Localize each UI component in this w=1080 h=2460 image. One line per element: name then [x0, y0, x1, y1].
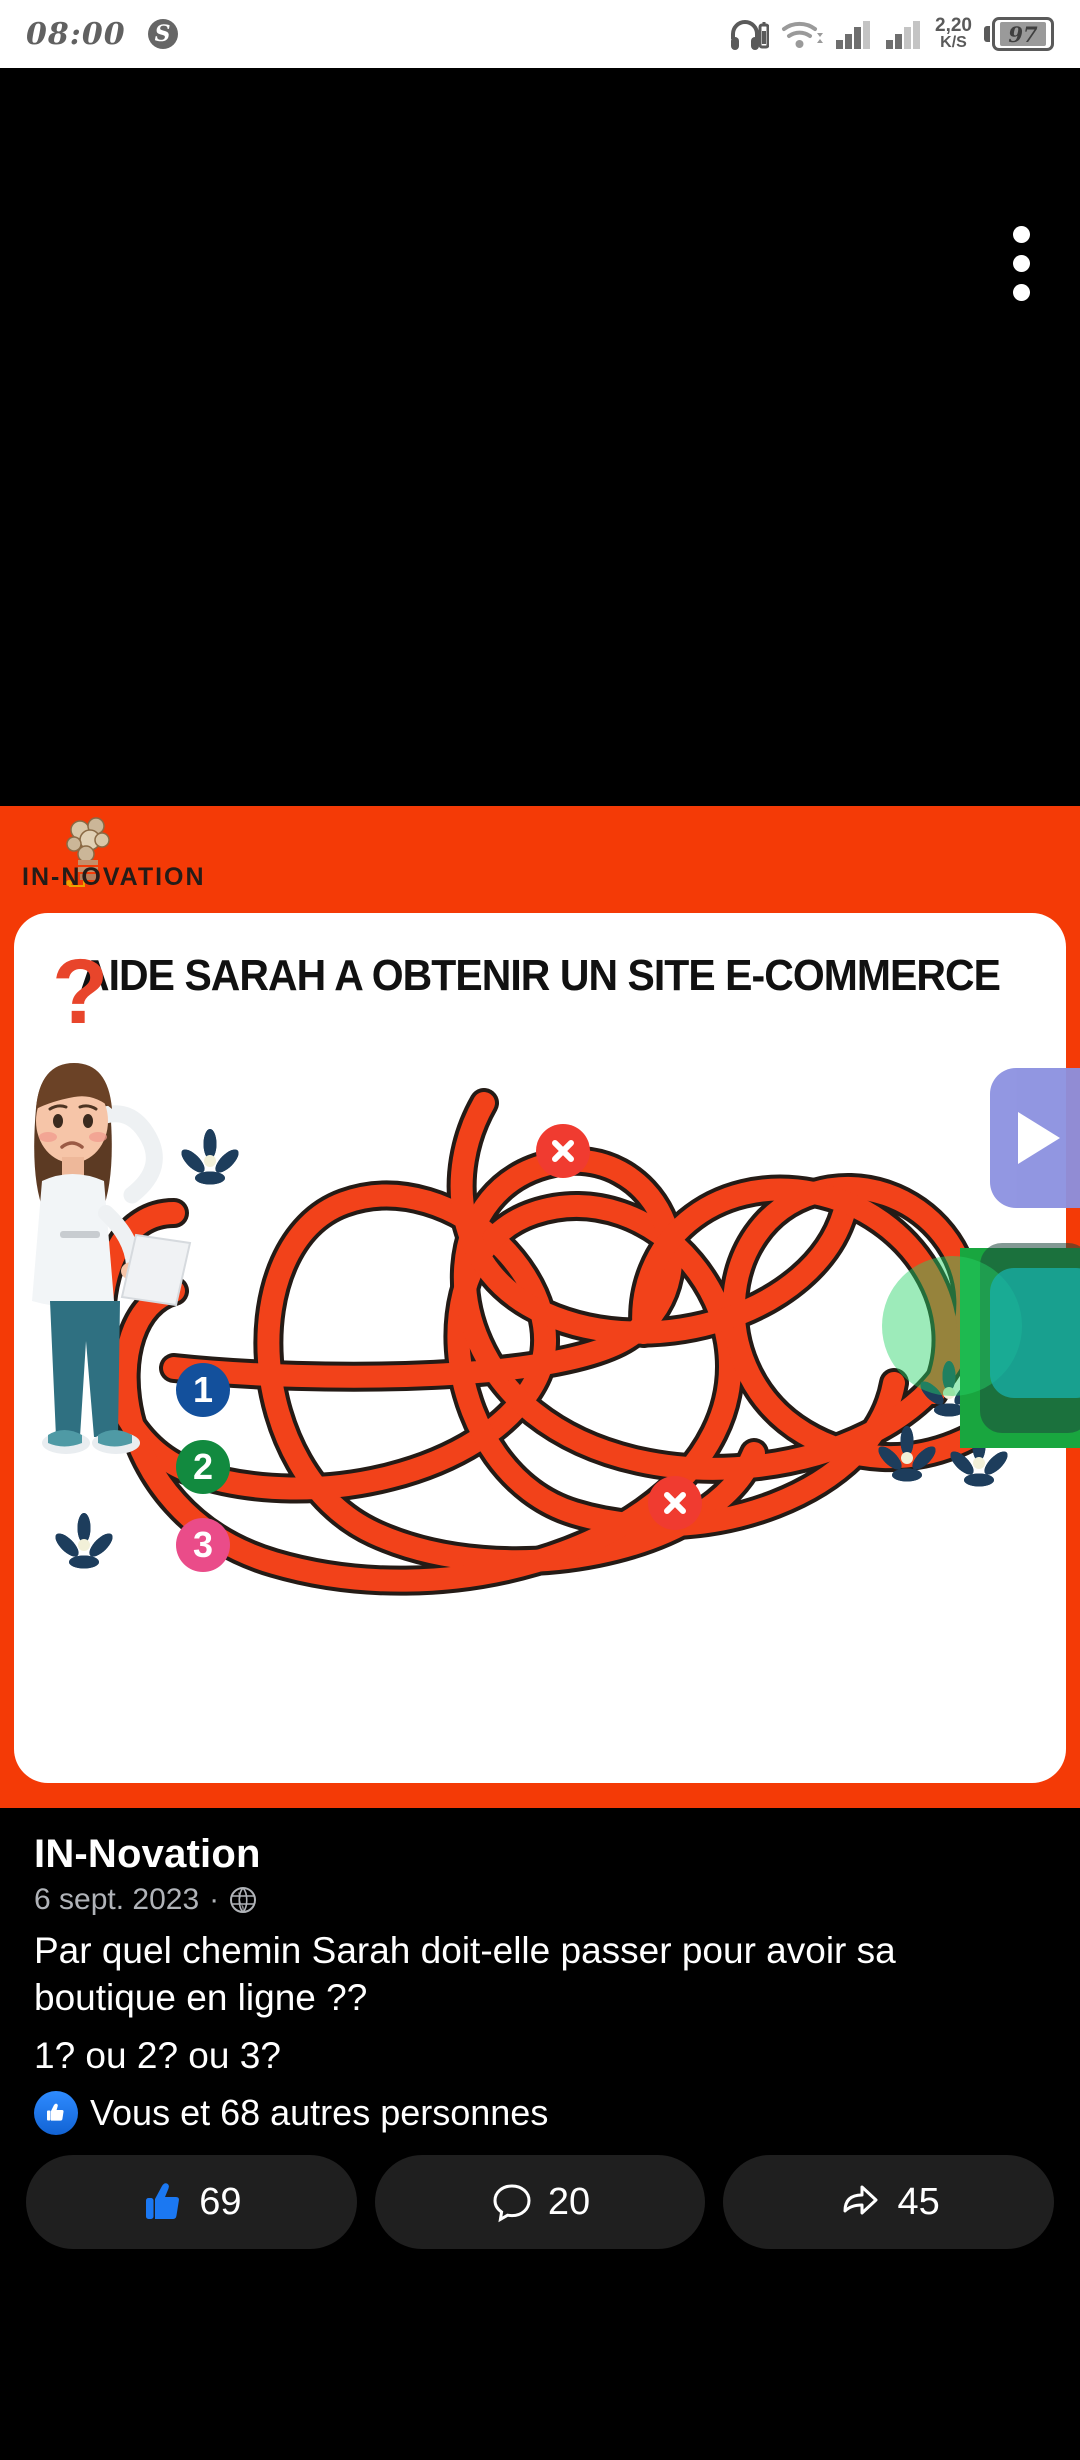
post-action-bar: 69 20 45: [0, 2135, 1080, 2275]
like-button[interactable]: 69: [26, 2155, 357, 2249]
reactions-summary-text: Vous et 68 autres personnes: [90, 2092, 548, 2134]
status-bar-right: 2,20 K/S 97: [729, 17, 1054, 51]
share-icon: [838, 2180, 884, 2224]
svg-text:?: ?: [52, 941, 108, 1043]
battery-nub: [984, 26, 990, 42]
brand-logo: IN-NOVATION: [18, 820, 248, 900]
purple-video-icon[interactable]: [990, 1068, 1080, 1208]
shazam-icon: [148, 19, 178, 49]
battery-indicator: 97: [984, 17, 1054, 51]
post-text-line-1: Par quel chemin Sarah doit-elle passer p…: [34, 1927, 1046, 2022]
comment-count: 20: [548, 2181, 590, 2224]
flower-icon: [178, 1129, 242, 1185]
brand-logo-text: IN-NOVATION: [22, 863, 206, 892]
share-button[interactable]: 45: [723, 2155, 1054, 2249]
more-options-icon[interactable]: [1010, 226, 1032, 301]
post-meta: 6 sept. 2023 ·: [34, 1883, 1046, 1917]
path-start-3[interactable]: 3: [176, 1518, 230, 1572]
thumbs-up-badge-icon: [34, 2091, 78, 2135]
thumbs-up-icon: [141, 2180, 185, 2224]
dead-end-marker: [536, 1124, 590, 1178]
comment-icon: [490, 2180, 534, 2224]
network-speed: 2,20 K/S: [935, 17, 972, 50]
post-text-line-2: 1? ou 2? ou 3?: [34, 2032, 1046, 2079]
signal-bars-icon: [885, 19, 923, 49]
post-body: IN-Novation 6 sept. 2023 · Par quel chem…: [0, 1808, 1080, 2135]
meta-separator: ·: [209, 1883, 219, 1917]
signal-bars-icon: [835, 19, 873, 49]
battery-body: 97: [992, 17, 1054, 51]
post-author[interactable]: IN-Novation: [34, 1832, 1046, 1877]
globe-public-icon: [229, 1886, 257, 1914]
post-date: 6 sept. 2023: [34, 1883, 199, 1917]
network-speed-unit: K/S: [935, 35, 972, 50]
flower-icon: [52, 1513, 116, 1569]
teal-app-icon[interactable]: [990, 1268, 1080, 1398]
play-arrow-icon: [1018, 1112, 1060, 1164]
network-speed-value: 2,20: [935, 17, 972, 35]
path-start-2[interactable]: 2: [176, 1440, 230, 1494]
path-start-1[interactable]: 1: [176, 1363, 230, 1417]
share-count: 45: [898, 2181, 940, 2224]
like-count: 69: [199, 2181, 241, 2224]
headphone-icon: [729, 17, 769, 51]
status-time: 08:00: [26, 17, 126, 52]
wifi-icon: [781, 18, 823, 50]
comment-button[interactable]: 20: [375, 2155, 706, 2249]
status-bar-left: 08:00: [26, 17, 178, 52]
battery-percent: 97: [1000, 22, 1046, 46]
dead-end-marker: [648, 1476, 702, 1530]
post-media[interactable]: IN-NOVATION AIDE SARAH A OBTENIR UN SITE…: [0, 68, 1080, 1808]
status-bar: 08:00: [0, 0, 1080, 68]
reactions-summary-row[interactable]: Vous et 68 autres personnes: [34, 2091, 1046, 2135]
